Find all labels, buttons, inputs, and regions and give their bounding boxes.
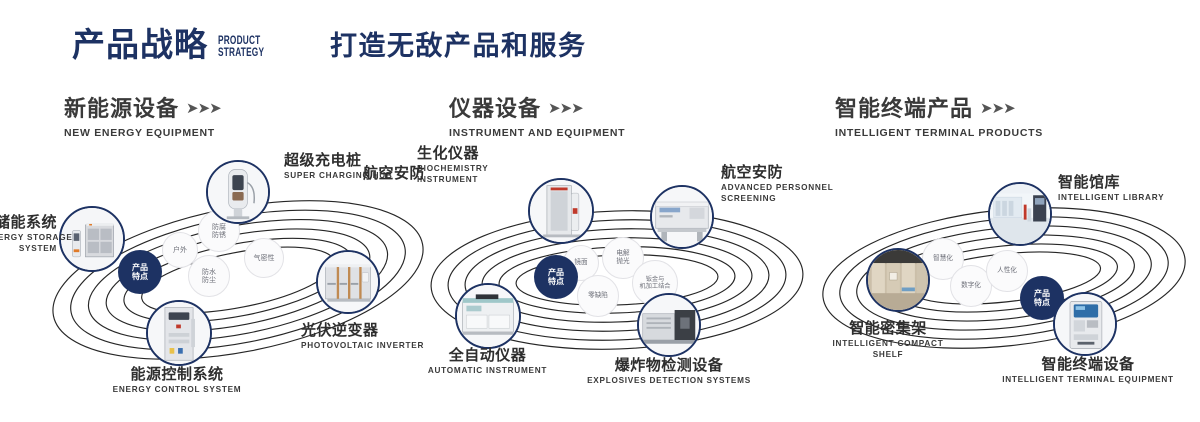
product-label-energy-control: 能源控制系统 ENERGY CONTROL SYSTEM xyxy=(82,366,272,396)
feature-bubble: 气密性 xyxy=(244,238,284,278)
section-title-en: INSTRUMENT AND EQUIPMENT xyxy=(449,127,625,139)
cluster-new-energy: 户外 防腐防锈 防水防尘 气密性 产品特点 xyxy=(40,150,440,400)
section-title-cn: 仪器设备➤➤➤ xyxy=(449,98,625,122)
product-label-explosives-detection: 爆炸物检测设备 EXPLOSIVES DETECTION SYSTEMS xyxy=(574,357,764,387)
product-circle-compact-shelf[interactable] xyxy=(866,248,930,312)
product-circle-automatic-instrument[interactable] xyxy=(455,283,521,349)
chevrons-icon: ➤➤➤ xyxy=(186,99,221,117)
product-circle-explosives-detection[interactable] xyxy=(637,293,701,357)
product-label-en: INTELLIGENT COMPACT SHELF xyxy=(798,339,978,360)
feature-bubble: 防水防尘 xyxy=(188,255,230,297)
section-title-cn: 新能源设备➤➤➤ xyxy=(64,98,221,122)
chevrons-icon: ➤➤➤ xyxy=(980,99,1015,117)
poster-canvas: 产品战略 PRODUCT STRATEGY 打造无敌产品和服务 新能源设备➤➤➤… xyxy=(0,0,1200,422)
section-title-new-energy: 新能源设备➤➤➤ NEW ENERGY EQUIPMENT xyxy=(64,98,221,139)
product-circle-energy-control[interactable] xyxy=(146,300,212,366)
product-circle-smart-library[interactable] xyxy=(988,182,1052,246)
product-label-biochemistry: 生化仪器 BIOCHEMISTRY INSTRUMENT xyxy=(417,145,488,185)
product-label-en: ENERGY STORAGE SYSTEM xyxy=(0,233,57,254)
section-title-cn: 智能终端产品➤➤➤ xyxy=(835,98,1043,122)
page-title-en: PRODUCT STRATEGY xyxy=(218,36,264,59)
product-label-smart-library: 智能馆库 INTELLIGENT LIBRARY xyxy=(1058,174,1164,204)
section-title-en: NEW ENERGY EQUIPMENT xyxy=(64,127,221,139)
chevrons-icon: ➤➤➤ xyxy=(548,99,583,117)
product-circle-pv-inverter[interactable] xyxy=(316,250,380,314)
screening-machine-icon xyxy=(652,187,712,247)
self-service-kiosk-icon xyxy=(1055,294,1115,354)
section-title-instrument: 仪器设备➤➤➤ INSTRUMENT AND EQUIPMENT xyxy=(449,98,625,139)
page-title-cn: 产品战略 xyxy=(72,28,208,61)
product-label-en: EXPLOSIVES DETECTION SYSTEMS xyxy=(574,376,764,386)
section-title-intelligent: 智能终端产品➤➤➤ INTELLIGENT TERMINAL PRODUCTS xyxy=(835,98,1043,139)
page-title: 产品战略 PRODUCT STRATEGY xyxy=(72,28,282,61)
energy-control-rack-icon xyxy=(148,302,210,364)
section-title-en: INTELLIGENT TERMINAL PRODUCTS xyxy=(835,127,1043,139)
cluster-intelligent-terminal: 智慧化 数字化 人性化 产品特点 xyxy=(808,160,1200,392)
product-label-energy-storage: 储能系统 ENERGY STORAGE SYSTEM xyxy=(0,214,57,254)
product-label-en: ENERGY CONTROL SYSTEM xyxy=(82,385,272,395)
product-label-terminal-equipment: 智能终端设备 INTELLIGENT TERMINAL EQUIPMENT xyxy=(988,356,1188,386)
product-circle-screening[interactable] xyxy=(650,185,714,249)
product-label-en: INTELLIGENT TERMINAL EQUIPMENT xyxy=(988,375,1188,385)
automatic-analyzer-icon xyxy=(457,285,519,347)
feature-bubble: 人性化 xyxy=(986,250,1028,292)
page-title-en-line1: PRODUCT xyxy=(218,36,264,48)
page-subtitle: 打造无敌产品和服务 xyxy=(330,33,587,60)
ev-charging-pile-icon xyxy=(208,162,268,222)
product-circle-terminal-equipment[interactable] xyxy=(1053,292,1117,356)
center-bubble-product-features: 产品特点 xyxy=(534,255,578,299)
center-bubble-product-features: 产品特点 xyxy=(118,250,162,294)
product-circle-biochemistry[interactable] xyxy=(528,178,594,244)
biochemistry-scanner-icon xyxy=(530,180,592,242)
cluster-instrument: 镜面 电解抛光 钣金与机加工结合 零缺陷 产品特点 生 xyxy=(425,155,815,395)
product-label-en: INTELLIGENT LIBRARY xyxy=(1058,193,1164,203)
product-label-automatic-instrument: 全自动仪器 AUTOMATIC INSTRUMENT xyxy=(405,347,570,377)
feature-bubble: 零缺陷 xyxy=(577,275,619,317)
product-label-aviation-security: 航空安防 xyxy=(335,165,425,182)
product-label-compact-shelf: 智能密集架 INTELLIGENT COMPACT SHELF xyxy=(798,320,978,360)
product-label-en: AUTOMATIC INSTRUMENT xyxy=(405,366,570,376)
explosive-detector-icon xyxy=(639,295,699,355)
smart-library-room-icon xyxy=(990,184,1050,244)
page-title-en-line2: STRATEGY xyxy=(218,48,264,60)
product-circle-charging-hub[interactable] xyxy=(206,160,270,224)
product-label-en: BIOCHEMISTRY INSTRUMENT xyxy=(417,164,488,185)
pv-inverter-cabinet-icon xyxy=(318,252,378,312)
compact-shelving-icon xyxy=(868,250,928,310)
